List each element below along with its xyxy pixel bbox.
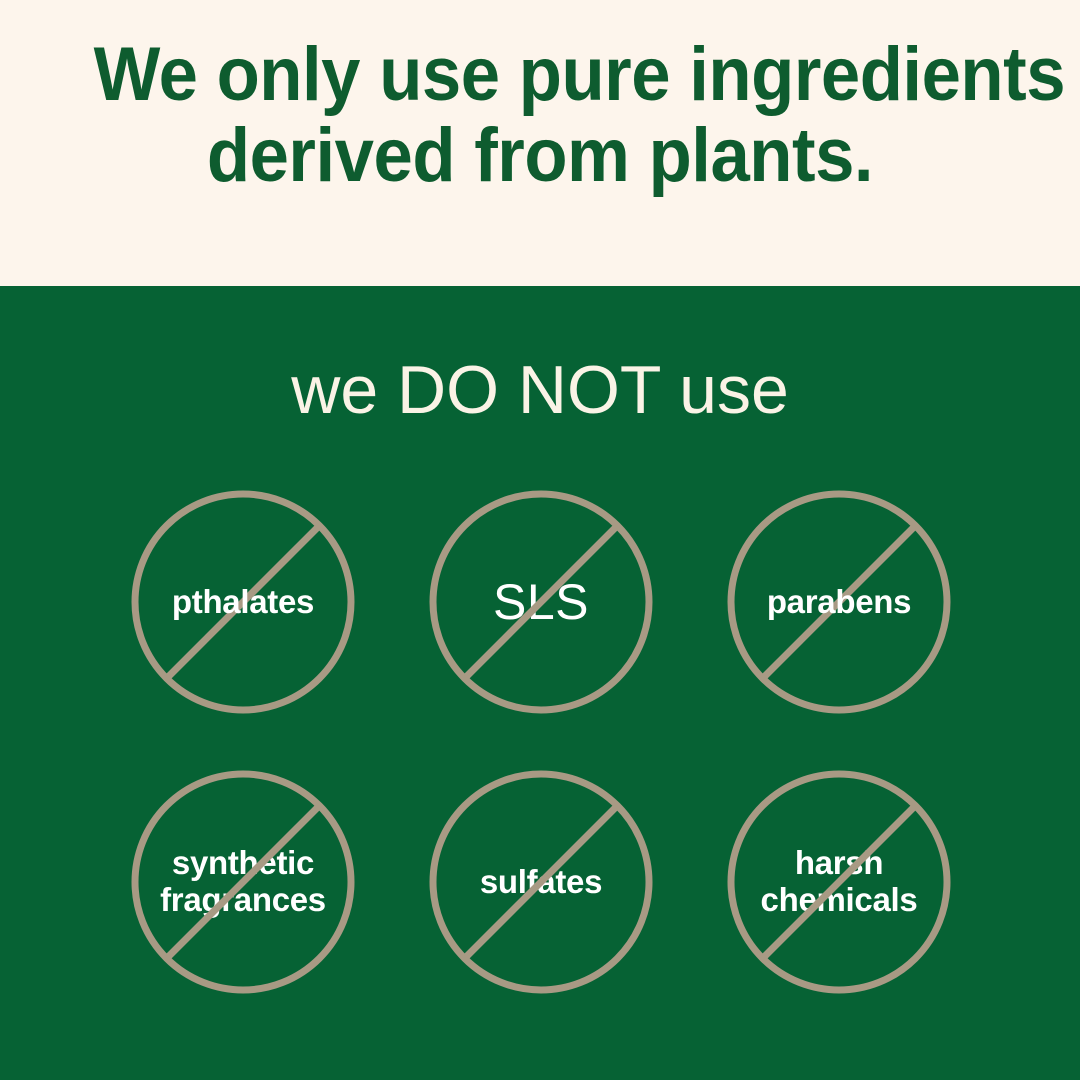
- do-not-use-panel: we DO NOT use pthalates: [0, 286, 1080, 1080]
- page-title-line-2: derived from plants.: [94, 116, 987, 197]
- prohibition-circle-icon: [131, 770, 355, 994]
- prohibition-circle-icon: [429, 770, 653, 994]
- badge-harsh-chemicals: harsh chemicals: [727, 770, 951, 994]
- badge-synthetic-fragrances: synthetic fragrances: [131, 770, 355, 994]
- promo-graphic: We only use pure ingredients derived fro…: [0, 0, 1080, 1080]
- badge-parabens: parabens: [727, 490, 951, 714]
- prohibition-circle-icon: [429, 490, 653, 714]
- excluded-ingredients-grid: pthalates SLS: [0, 490, 1080, 1020]
- section-heading: we DO NOT use: [0, 356, 1080, 424]
- page-title: We only use pure ingredients derived fro…: [94, 35, 987, 196]
- prohibition-circle-icon: [131, 490, 355, 714]
- badge-sls: SLS: [429, 490, 653, 714]
- prohibition-circle-icon: [727, 770, 951, 994]
- page-title-line-1: We only use pure ingredients: [94, 35, 987, 116]
- prohibition-circle-icon: [727, 490, 951, 714]
- header-banner: We only use pure ingredients derived fro…: [0, 0, 1080, 286]
- badge-sulfates: sulfates: [429, 770, 653, 994]
- badge-pthalates: pthalates: [131, 490, 355, 714]
